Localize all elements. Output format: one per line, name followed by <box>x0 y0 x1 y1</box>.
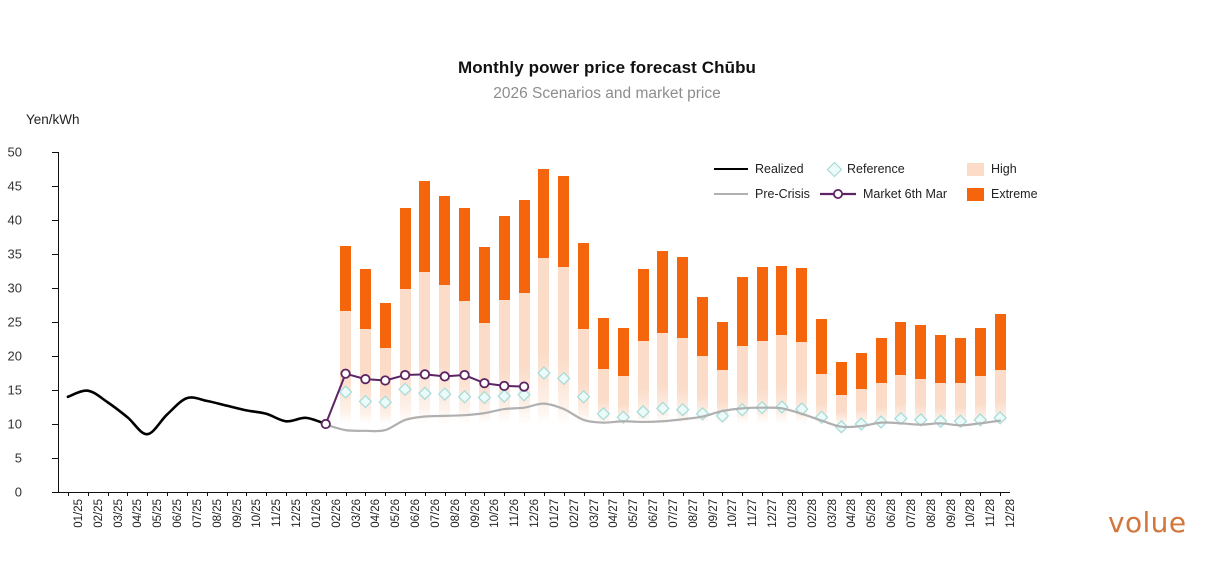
reference-diamond-marker[interactable] <box>498 390 510 402</box>
chart-container: Monthly power price forecast Chūbu 2026 … <box>0 0 1214 567</box>
market-point-marker[interactable] <box>460 371 468 379</box>
legend-label: Pre-Crisis <box>755 187 810 201</box>
reference-diamond-marker[interactable] <box>538 367 550 379</box>
legend-label: Realized <box>755 162 804 176</box>
reference-diamond-marker[interactable] <box>399 383 411 395</box>
volue-logo: volue <box>1108 506 1186 539</box>
reference-diamond-marker[interactable] <box>340 386 352 398</box>
legend-item-extreme[interactable]: Extreme <box>967 187 1038 201</box>
reference-diamond-marker[interactable] <box>419 387 431 399</box>
diamond-marker-icon <box>827 161 843 177</box>
reference-diamond-marker[interactable] <box>657 402 669 414</box>
legend-label: Extreme <box>991 187 1038 201</box>
reference-diamond-marker[interactable] <box>558 373 570 385</box>
swatch-icon <box>967 163 984 176</box>
reference-diamond-marker[interactable] <box>855 418 867 430</box>
reference-diamond-marker[interactable] <box>578 391 590 403</box>
line-marker-icon <box>820 188 856 200</box>
market-point-marker[interactable] <box>401 371 409 379</box>
chart-legend: Realized Reference High Pre-Crisis Marke… <box>714 158 1044 206</box>
reference-diamond-marker[interactable] <box>459 391 471 403</box>
realized-line <box>68 391 326 435</box>
legend-label: Reference <box>847 162 905 176</box>
reference-diamond-marker[interactable] <box>439 388 451 400</box>
legend-label: High <box>991 162 1017 176</box>
reference-diamond-marker[interactable] <box>935 415 947 427</box>
line-icon <box>714 168 748 170</box>
market-point-marker[interactable] <box>520 382 528 390</box>
reference-diamond-marker[interactable] <box>478 392 490 404</box>
reference-diamond-marker[interactable] <box>677 404 689 416</box>
market-point-marker[interactable] <box>361 375 369 383</box>
reference-diamond-marker[interactable] <box>597 408 609 420</box>
legend-item-high[interactable]: High <box>967 162 1017 176</box>
market-point-marker[interactable] <box>341 369 349 377</box>
reference-diamond-marker[interactable] <box>637 406 649 418</box>
market-point-marker[interactable] <box>441 372 449 380</box>
market-point-marker[interactable] <box>322 420 330 428</box>
market-point-marker[interactable] <box>500 382 508 390</box>
legend-label: Market 6th Mar <box>863 187 947 201</box>
line-icon <box>714 193 748 195</box>
market-point-marker[interactable] <box>480 379 488 387</box>
legend-item-realized[interactable]: Realized <box>714 162 804 176</box>
market-point-marker[interactable] <box>381 376 389 384</box>
line-series-overlay <box>0 0 1214 567</box>
reference-diamond-marker[interactable] <box>379 396 391 408</box>
market-point-marker[interactable] <box>421 370 429 378</box>
legend-item-reference[interactable]: Reference <box>829 162 905 176</box>
legend-item-pre-crisis[interactable]: Pre-Crisis <box>714 187 810 201</box>
swatch-icon <box>967 188 984 201</box>
legend-item-market[interactable]: Market 6th Mar <box>820 187 947 201</box>
reference-diamond-marker[interactable] <box>359 396 371 408</box>
